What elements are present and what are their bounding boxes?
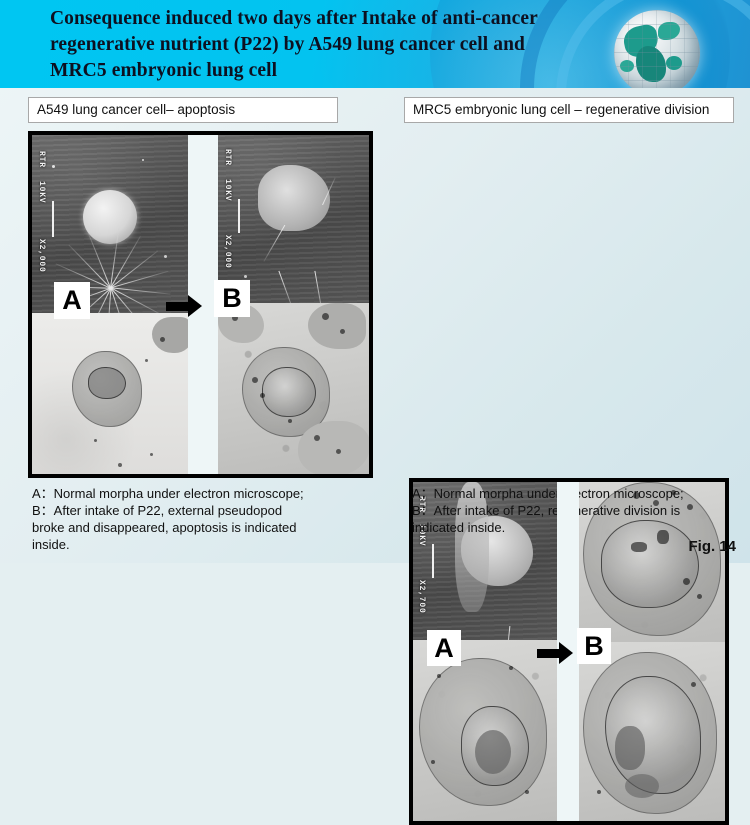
label-a: A [54, 282, 90, 319]
panel-a549: A549 lung cancer cell– apoptosis [28, 97, 338, 123]
page-title: Consequence induced two days after Intak… [50, 6, 610, 84]
caption-line-2: B：After intake of P22, external pseudopo… [32, 502, 382, 519]
sem-annotation-mag: X2,000 [223, 235, 232, 269]
slide: Consequence induced two days after Intak… [0, 0, 750, 563]
panel-title-mrc5: MRC5 embryonic lung cell – regenerative … [404, 97, 734, 123]
label-b: B [577, 628, 611, 664]
label-b: B [214, 280, 250, 317]
sem-annotation-mag: X2,000 [37, 239, 46, 273]
caption-line-4: inside. [32, 536, 382, 553]
title-line-2: regenerative nutrient (P22) by A549 lung… [50, 32, 610, 58]
title-line-3: MRC5 embryonic lung cell [50, 58, 610, 84]
sem-annotation-mag: X2,700 [417, 580, 426, 614]
right-arrow-icon [166, 295, 202, 317]
tem-image-a549-a [32, 313, 188, 474]
sem-annotation-kv: 10KV [223, 179, 232, 201]
sem-annotation-rtr: RTR [223, 149, 232, 166]
caption-line-3: broke and disappeared, apoptosis is indi… [32, 519, 382, 536]
slide-header: Consequence induced two days after Intak… [0, 0, 750, 88]
tem-image-mrc5-b-bottom [579, 642, 725, 821]
title-line-1: Consequence induced two days after Intak… [50, 6, 610, 32]
panel-mrc5: MRC5 embryonic lung cell – regenerative … [404, 97, 734, 123]
caption-a549: A：Normal morpha under electron microscop… [32, 485, 382, 553]
sem-annotation-kv: 10KV [37, 181, 46, 203]
tem-image-mrc5-a [413, 640, 557, 821]
right-arrow-icon [537, 642, 573, 664]
figure-number: Fig. 14 [688, 538, 736, 555]
panel-title-a549: A549 lung cancer cell– apoptosis [28, 97, 338, 123]
tem-image-a549-b [218, 303, 369, 474]
globe-icon [614, 10, 700, 88]
figure-a549: RTR 10KV X2,000 [28, 131, 373, 478]
sem-annotation-rtr: RTR [37, 151, 46, 168]
caption-line-1: A：Normal morpha under electron microscop… [32, 485, 382, 502]
label-a: A [427, 630, 461, 666]
